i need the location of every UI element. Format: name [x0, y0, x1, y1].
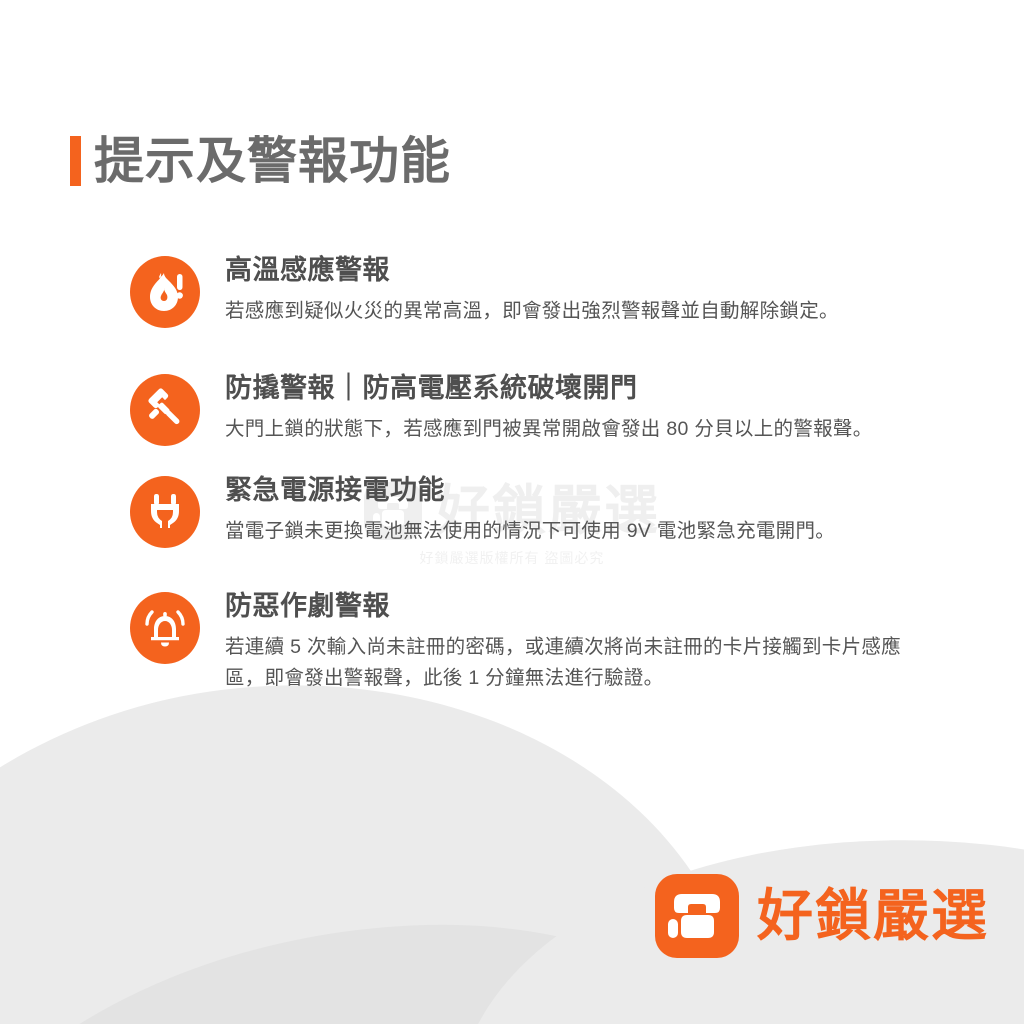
feature-body: 防惡作劇警報 若連續 5 次輸入尚未註冊的密碼，或連續次將尚未註冊的卡片接觸到卡…: [225, 588, 925, 695]
brand-footer: 好鎖嚴選: [655, 874, 989, 958]
infographic-page: 好鎖嚴選 好鎖嚴選版權所有 盜圖必究 提示及警報功能 高溫感應警報 若感應到疑似…: [0, 0, 1024, 1024]
flame-alert-icon: [130, 256, 200, 328]
feature-body: 防撬警報｜防高電壓系統破壞開門 大門上鎖的狀態下，若感應到門被異常開啟會發出 8…: [225, 370, 873, 445]
feature-title: 高溫感應警報: [225, 254, 839, 288]
page-title: 提示及警報功能: [70, 136, 451, 186]
pipe-wrench-icon: [130, 374, 200, 446]
title-accent-bar: [70, 136, 81, 186]
feature-title: 防撬警報｜防高電壓系統破壞開門: [225, 372, 873, 406]
feature-description: 大門上鎖的狀態下，若感應到門被異常開啟會發出 80 分貝以上的警報聲。: [225, 414, 873, 446]
page-title-text: 提示及警報功能: [94, 136, 451, 186]
feature-title: 緊急電源接電功能: [225, 474, 835, 508]
feature-description: 若感應到疑似火災的異常高溫，即會發出強烈警報聲並自動解除鎖定。: [225, 296, 839, 328]
feature-body: 緊急電源接電功能 當電子鎖未更換電池無法使用的情況下可使用 9V 電池緊急充電開…: [225, 472, 835, 547]
feature-title: 防惡作劇警報: [225, 590, 925, 624]
list-item: 高溫感應警報 若感應到疑似火災的異常高溫，即會發出強烈警報聲並自動解除鎖定。: [130, 252, 960, 328]
feature-body: 高溫感應警報 若感應到疑似火災的異常高溫，即會發出強烈警報聲並自動解除鎖定。: [225, 252, 839, 327]
list-item: 防撬警報｜防高電壓系統破壞開門 大門上鎖的狀態下，若感應到門被異常開啟會發出 8…: [130, 370, 960, 446]
list-item: 防惡作劇警報 若連續 5 次輸入尚未註冊的密碼，或連續次將尚未註冊的卡片接觸到卡…: [130, 588, 960, 695]
feature-list: 高溫感應警報 若感應到疑似火災的異常高溫，即會發出強烈警報聲並自動解除鎖定。 防…: [130, 252, 960, 695]
haosuo-logo-icon: [655, 874, 739, 958]
feature-description: 若連續 5 次輸入尚未註冊的密碼，或連續次將尚未註冊的卡片接觸到卡片感應區，即會…: [225, 632, 925, 695]
ringing-bell-icon: [130, 592, 200, 664]
brand-name: 好鎖嚴選: [757, 888, 989, 944]
power-plug-icon: [130, 476, 200, 548]
list-item: 緊急電源接電功能 當電子鎖未更換電池無法使用的情況下可使用 9V 電池緊急充電開…: [130, 472, 960, 548]
feature-description: 當電子鎖未更換電池無法使用的情況下可使用 9V 電池緊急充電開門。: [225, 516, 835, 548]
